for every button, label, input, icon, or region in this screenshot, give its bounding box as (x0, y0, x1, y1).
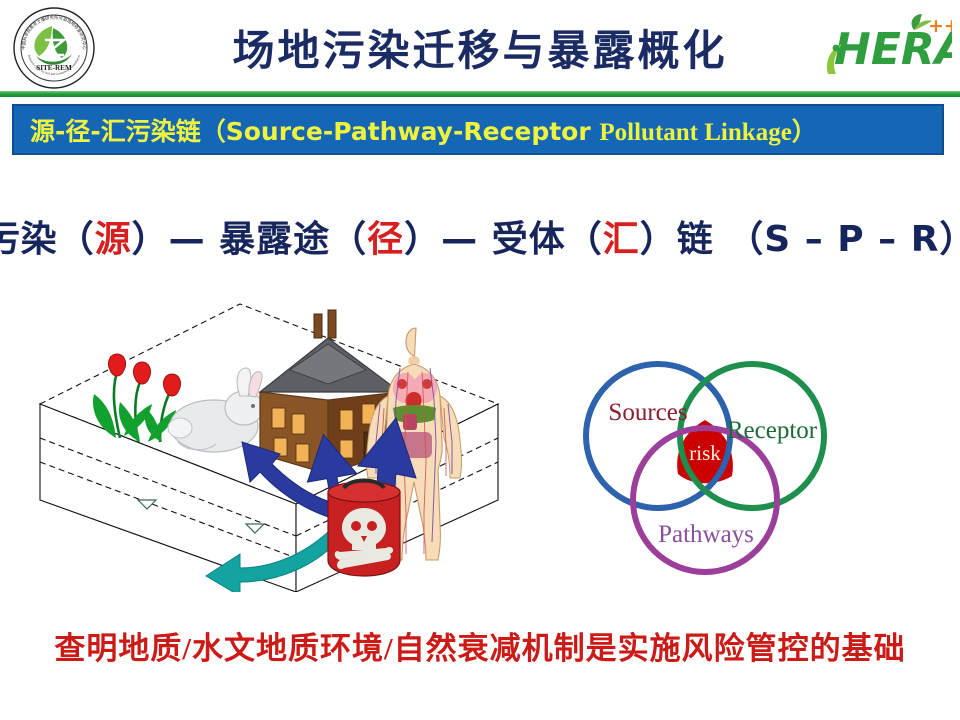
spr-highlight-pathway: 径 (367, 210, 404, 262)
page-title: 场地污染迁移与暴露概化 (170, 14, 790, 80)
spr-highlight-source: 源 (95, 210, 132, 262)
spr-seg-1: 污染（ (0, 210, 95, 262)
section-banner: 源-径-汇污染链（Source-Pathway-Receptor Polluta… (12, 104, 944, 155)
venn-label-receptor: Receptor (727, 417, 818, 444)
spr-seg-3: ）— 受体（ (404, 210, 603, 262)
banner-cn: 源-径-汇污染链（Source-Pathway-Receptor (30, 117, 599, 146)
banner-close: ） (792, 117, 817, 146)
banner-en: Pollutant Linkage (599, 119, 791, 146)
spr-highlight-receptor: 汇 (603, 210, 640, 262)
hera-superscript: ++ (928, 15, 952, 37)
bottom-note: 查明地质/水文地质环境/自然衰减机制是实施风险管控的基础 (0, 620, 960, 670)
spr-chain-line: 污染（源）— 暴露途（径）— 受体（汇）链 （S – P – R） (0, 205, 960, 267)
spr-seg-4: ）链 （S – P – R） (640, 210, 960, 262)
logo-center-text: SITE-REM (36, 64, 72, 72)
venn-label-sources: Sources (608, 399, 687, 426)
header-divider (0, 91, 960, 97)
toxic-drum (328, 481, 400, 577)
venn-label-pathways: Pathways (658, 521, 754, 548)
source-pathway-receptor-venn: Sources Receptor Pathways risk (540, 328, 870, 578)
spr-seg-2: ）— 暴露途（ (132, 210, 368, 262)
venn-label-risk: risk (689, 441, 721, 465)
slide: 中国科学院南京土壤研究所污染场地修复研究中心 Research Center f… (0, 0, 960, 720)
hera-logo: HERA ++ (822, 8, 952, 84)
section-banner-text: 源-径-汇污染链（Source-Pathway-Receptor Polluta… (14, 112, 817, 148)
conceptual-site-model (28, 292, 528, 597)
site-rem-logo: 中国科学院南京土壤研究所污染场地修复研究中心 Research Center f… (12, 6, 96, 90)
slide-header: 中国科学院南京土壤研究所污染场地修复研究中心 Research Center f… (0, 0, 960, 92)
